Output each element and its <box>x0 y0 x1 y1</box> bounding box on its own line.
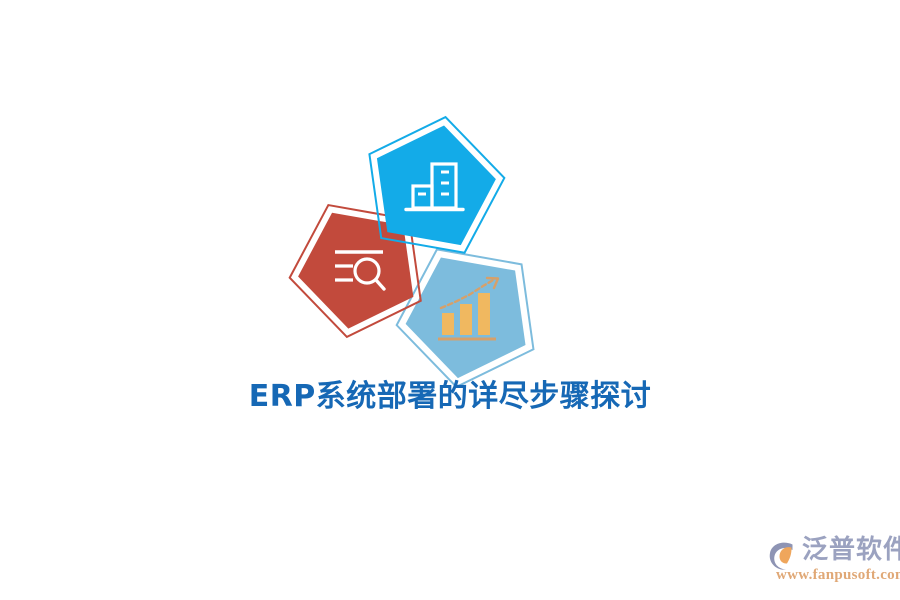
watermark: 泛普软件 www.fanpusoft.com <box>766 534 894 588</box>
watermark-brand: 泛普软件 <box>802 535 900 565</box>
page-title: ERP系统部署的详尽步骤探讨 <box>0 377 900 417</box>
page-canvas: ERP系统部署的详尽步骤探讨 泛普软件 www.fanpusoft.com <box>0 0 900 600</box>
pentagon-building <box>297 118 547 368</box>
watermark-url: www.fanpusoft.com <box>776 566 900 584</box>
pentagon-cluster-graphic <box>297 118 547 368</box>
pentagon-building-body <box>365 115 504 249</box>
